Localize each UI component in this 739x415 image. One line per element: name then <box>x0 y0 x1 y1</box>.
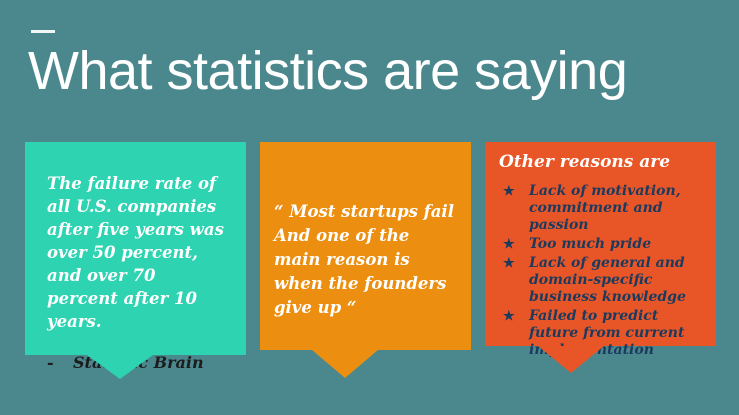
reasons-list: ★Lack of motivation, commitment and pass… <box>499 183 704 359</box>
list-item: ★Lack of motivation, commitment and pass… <box>499 183 704 234</box>
statistic-card-text: The failure rate of all U.S. companies a… <box>47 172 228 333</box>
reasons-card: Other reasons are ★Lack of motivation, c… <box>485 142 716 378</box>
star-bullet-icon: ★ <box>499 183 529 200</box>
list-item: ★Too much pride <box>499 236 704 253</box>
star-bullet-icon: ★ <box>499 236 529 253</box>
accent-dash-icon <box>31 30 55 33</box>
presentation-slide: What statistics are saying The failure r… <box>0 0 739 415</box>
reasons-card-body: Other reasons are ★Lack of motivation, c… <box>485 142 716 346</box>
page-title: What statistics are saying <box>28 40 718 102</box>
statistic-card-body: The failure rate of all U.S. companies a… <box>25 142 246 355</box>
quote-card: “ Most startups fail And one of the main… <box>260 142 471 378</box>
list-item-label: Too much pride <box>529 236 704 253</box>
quote-card-body: “ Most startups fail And one of the main… <box>260 142 471 350</box>
list-item-label: Lack of motivation, commitment and passi… <box>529 183 704 234</box>
list-item-label: Lack of general and domain-specific busi… <box>529 255 704 306</box>
reasons-card-tail <box>538 346 604 373</box>
quote-card-text: “ Most startups fail And one of the main… <box>274 200 457 320</box>
star-bullet-icon: ★ <box>499 308 529 325</box>
statistic-card-tail <box>87 355 153 379</box>
source-dash: - <box>47 353 73 373</box>
statistic-card: The failure rate of all U.S. companies a… <box>25 142 246 378</box>
reasons-card-heading: Other reasons are <box>499 150 704 174</box>
star-bullet-icon: ★ <box>499 255 529 272</box>
quote-card-tail <box>312 350 378 378</box>
list-item: ★Lack of general and domain-specific bus… <box>499 255 704 306</box>
